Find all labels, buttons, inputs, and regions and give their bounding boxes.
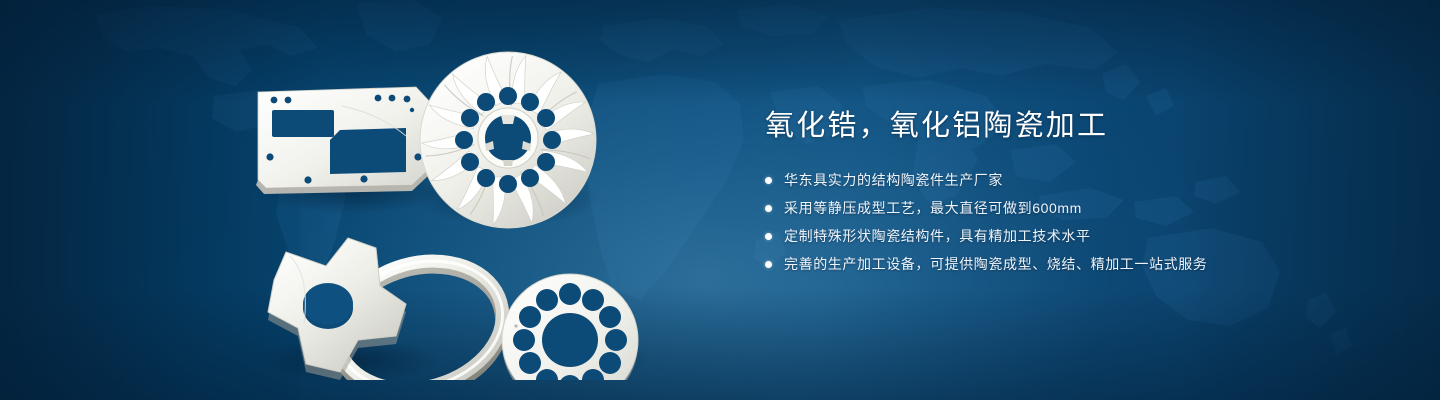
ceramic-products-hero-banner: 氧化锆，氧化铝陶瓷加工 华东具实力的结构陶瓷件生产厂家 采用等静压成型工艺，最大…	[0, 0, 1440, 400]
list-item: 采用等静压成型工艺，最大直径可做到600mm	[765, 198, 1385, 219]
ceramic-products-image-group	[230, 40, 700, 380]
list-item: 定制特殊形状陶瓷结构件，具有精加工技术水平	[765, 226, 1385, 247]
feature-text: 完善的生产加工设备，可提供陶瓷成型、烧结、精加工一站式服务	[784, 254, 1207, 275]
feature-text: 采用等静压成型工艺，最大直径可做到600mm	[784, 198, 1082, 219]
ceramic-perforated-disc	[502, 274, 638, 380]
bullet-dot-icon	[765, 261, 772, 268]
page-title: 氧化锆，氧化铝陶瓷加工	[765, 108, 1385, 144]
list-item: 华东具实力的结构陶瓷件生产厂家	[765, 170, 1385, 191]
bullet-dot-icon	[765, 205, 772, 212]
list-item: 完善的生产加工设备，可提供陶瓷成型、烧结、精加工一站式服务	[765, 254, 1385, 275]
ceramic-impeller-wheel	[420, 52, 596, 228]
bullet-dot-icon	[765, 177, 772, 184]
banner-copy-block: 氧化锆，氧化铝陶瓷加工 华东具实力的结构陶瓷件生产厂家 采用等静压成型工艺，最大…	[765, 108, 1385, 282]
feature-list: 华东具实力的结构陶瓷件生产厂家 采用等静压成型工艺，最大直径可做到600mm 定…	[765, 170, 1385, 275]
ceramic-machined-plate	[256, 87, 430, 194]
feature-text: 定制特殊形状陶瓷结构件，具有精加工技术水平	[784, 226, 1091, 247]
bullet-dot-icon	[765, 233, 772, 240]
feature-text: 华东具实力的结构陶瓷件生产厂家	[784, 170, 1003, 191]
